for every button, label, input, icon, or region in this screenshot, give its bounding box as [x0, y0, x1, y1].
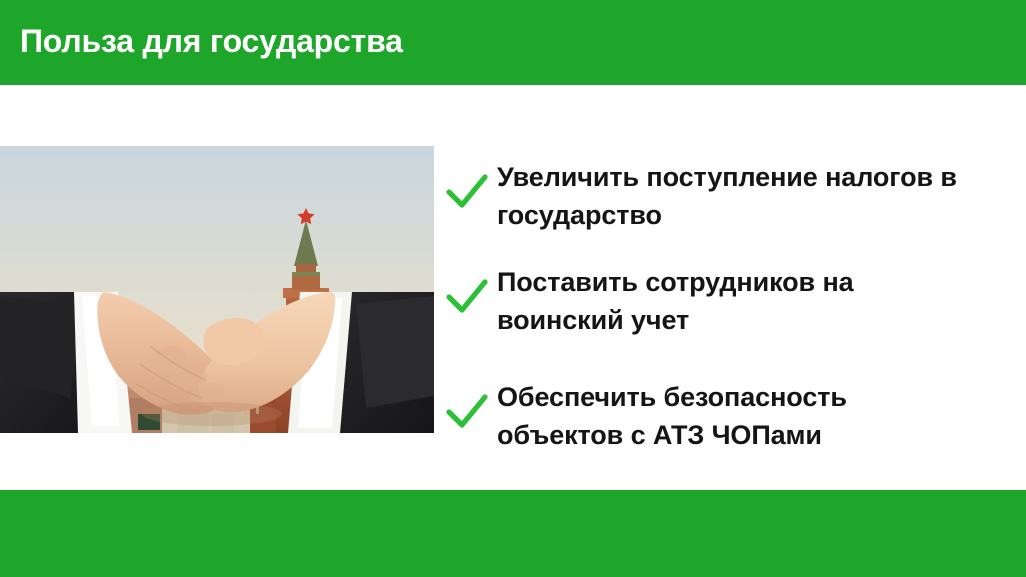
check-icon: [444, 273, 490, 319]
list-item-label: Увеличить поступление налогов в государс…: [497, 158, 1017, 234]
list-item-label: Обеспечить безопасность объектов с АТЗ Ч…: [497, 378, 917, 454]
check-icon-glyph: [444, 168, 490, 214]
check-icon: [444, 388, 490, 434]
list-item-label: Поставить сотрудников на воинский учет: [497, 263, 917, 339]
handshake-over-red-square-photo: [0, 146, 434, 433]
header-bar: Польза для государства: [0, 0, 1026, 85]
slide: Польза для государства: [0, 0, 1026, 577]
handshake-illustration-icon: [0, 146, 434, 433]
check-icon: [444, 168, 490, 214]
footer-bar: [0, 490, 1026, 577]
page-title: Польза для государства: [20, 20, 403, 62]
check-icon-glyph: [444, 388, 490, 434]
check-icon-glyph: [444, 273, 490, 319]
